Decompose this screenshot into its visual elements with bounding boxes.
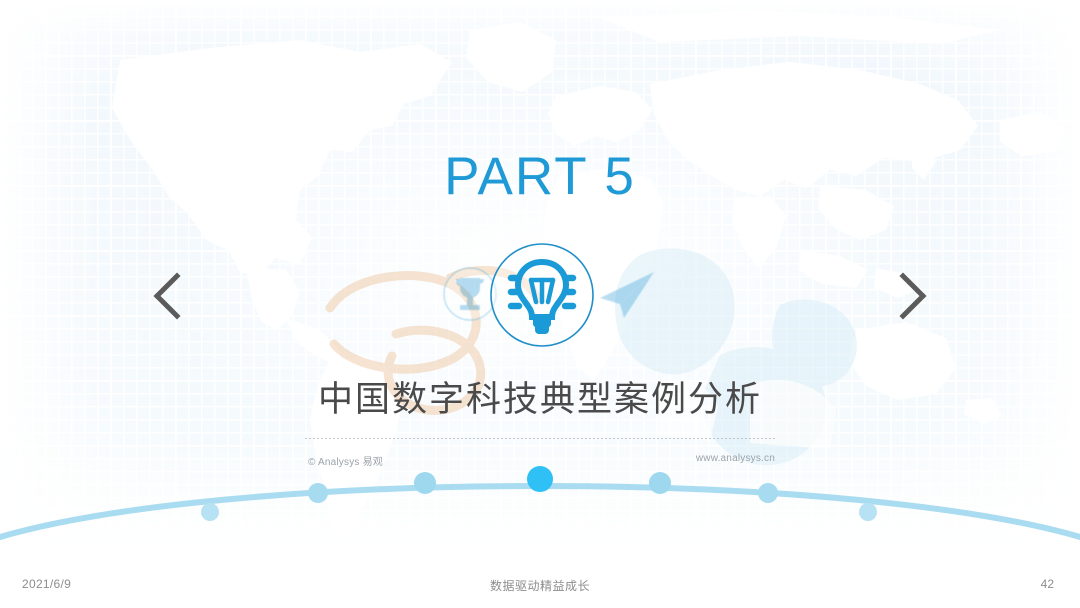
website-label: www.analysys.cn [0, 453, 1080, 464]
slide-footer: 2021/6/9 数据驱动精益成长 42 [0, 565, 1080, 608]
prev-slide-chevron-icon[interactable] [145, 268, 191, 324]
page-title: 中国数字科技典型案例分析 [0, 371, 1080, 422]
presentation-slide: PART 5 [0, 0, 1080, 608]
section-part-label: PART 5 [0, 146, 1080, 207]
next-slide-chevron-icon[interactable] [889, 268, 935, 324]
paper-plane-icon [590, 256, 666, 332]
credit-divider [305, 438, 775, 439]
footer-page-number: 42 [1041, 577, 1054, 591]
section-icon-cluster [430, 240, 660, 350]
footer-tagline: 数据驱动精益成长 [0, 577, 1080, 594]
lightbulb-icon [487, 240, 597, 350]
